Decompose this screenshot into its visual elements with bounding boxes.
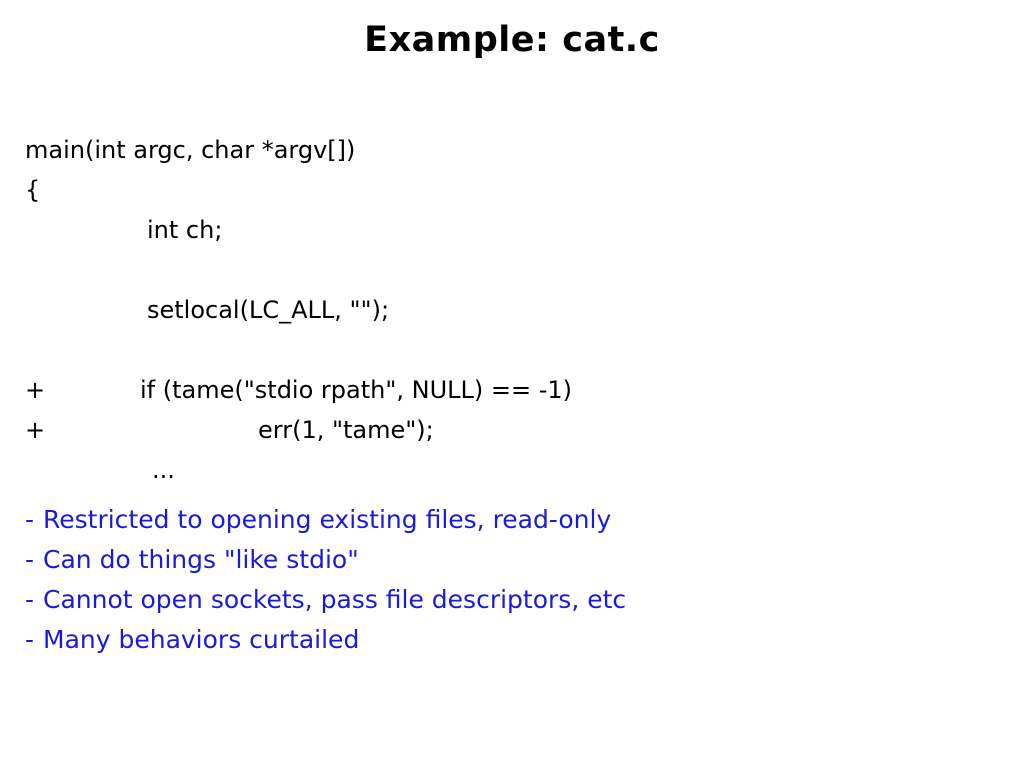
code-line-text: if (tame("stdio rpath", NULL) == -1) xyxy=(140,376,572,404)
page-title: Example: cat.c xyxy=(0,20,1024,60)
code-line-added: +if (tame("stdio rpath", NULL) == -1) xyxy=(25,370,985,410)
list-item-label: Many behaviors curtailed xyxy=(43,625,359,654)
code-line: main(int argc, char *argv[]) xyxy=(25,130,985,170)
bullet-dash-icon: - xyxy=(25,580,43,620)
list-item-label: Cannot open sockets, pass file descripto… xyxy=(43,585,626,614)
bullet-list: -Restricted to opening existing files, r… xyxy=(25,500,985,660)
code-line: int ch; xyxy=(25,210,985,250)
bullet-dash-icon: - xyxy=(25,620,43,660)
list-item: -Many behaviors curtailed xyxy=(25,620,985,660)
bullet-dash-icon: - xyxy=(25,540,43,580)
code-line-text: ... xyxy=(152,456,175,484)
code-line: setlocal(LC_ALL, ""); xyxy=(25,290,985,330)
code-block: main(int argc, char *argv[]) { int ch; s… xyxy=(25,130,985,490)
list-item: -Can do things "like stdio" xyxy=(25,540,985,580)
code-line-blank xyxy=(25,250,985,290)
code-line-blank xyxy=(25,330,985,370)
slide-canvas: Example: cat.c main(int argc, char *argv… xyxy=(0,0,1024,768)
code-line-text: setlocal(LC_ALL, ""); xyxy=(147,296,389,324)
diff-add-marker: + xyxy=(25,410,258,450)
code-line-text: err(1, "tame"); xyxy=(258,416,434,444)
list-item-label: Restricted to opening existing files, re… xyxy=(43,505,611,534)
code-line: { xyxy=(25,170,985,210)
list-item-label: Can do things "like stdio" xyxy=(43,545,359,574)
code-line-text: int ch; xyxy=(147,216,222,244)
code-line-added: +err(1, "tame"); xyxy=(25,410,985,450)
code-line-ellipsis: ... xyxy=(25,450,985,490)
list-item: -Cannot open sockets, pass file descript… xyxy=(25,580,985,620)
diff-add-marker: + xyxy=(25,370,140,410)
code-line-text: { xyxy=(25,176,40,204)
bullet-dash-icon: - xyxy=(25,500,43,540)
code-line-text: main(int argc, char *argv[]) xyxy=(25,136,355,164)
list-item: -Restricted to opening existing files, r… xyxy=(25,500,985,540)
